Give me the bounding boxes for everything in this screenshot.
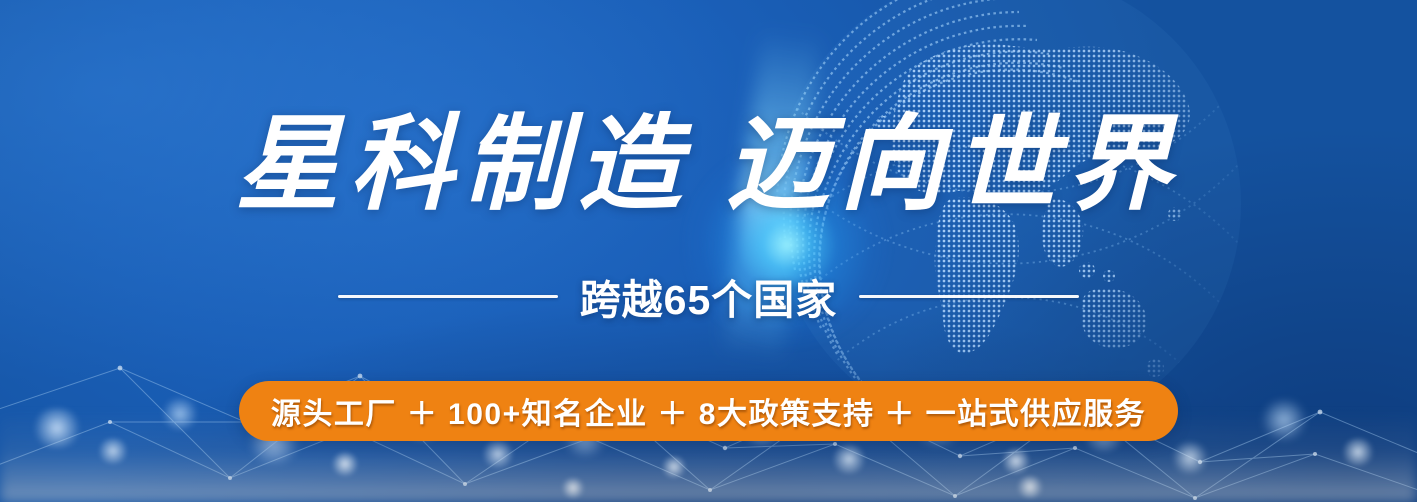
badge-row: 源头工厂 ＋ 100+知名企业 ＋ 8大政策支持 ＋ 一站式供应服务 [0,381,1417,441]
promo-banner: 星科制造迈向世界 跨越65个国家 源头工厂 ＋ 100+知名企业 ＋ 8大政策支… [0,0,1417,502]
subtitle-text: 跨越65个国家 [580,266,838,326]
features-badge[interactable]: 源头工厂 ＋ 100+知名企业 ＋ 8大政策支持 ＋ 一站式供应服务 [239,381,1178,441]
divider-line-right [859,295,1079,298]
divider-line-left [338,295,558,298]
banner-content: 星科制造迈向世界 跨越65个国家 源头工厂 ＋ 100+知名企业 ＋ 8大政策支… [0,0,1417,502]
headline-part-2: 迈向世界 [726,108,1182,223]
headline-part-1: 星科制造 [235,108,691,223]
headline: 星科制造迈向世界 [0,104,1417,228]
subtitle-row: 跨越65个国家 [0,266,1417,326]
